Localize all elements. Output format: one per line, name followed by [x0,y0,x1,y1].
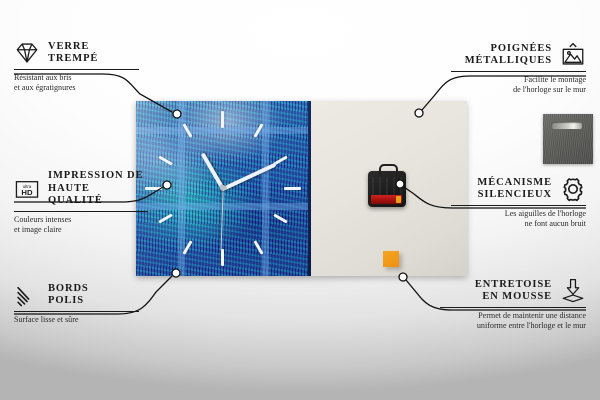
callout-mecanisme-silencieux: MÉCANISME SILENCIEUX Les aiguilles de l'… [451,176,586,229]
callout-title: BORDS POLIS [48,283,89,308]
foam-spacer-icon [560,278,586,304]
glass-reflection [136,101,311,276]
wall-mount-icon [560,42,586,68]
ultra-hd-icon-bottom: HD [21,188,33,197]
callout-title: POIGNÉES MÉTALLIQUES [465,43,552,68]
foam-spacer [383,251,399,267]
callout-poignees-metalliques: POIGNÉES MÉTALLIQUES Facilite le montage… [451,42,586,95]
mechanism-hanger-loop [379,164,398,175]
polished-edges-icon [14,282,40,308]
callout-title: IMPRESSION DE HAUTE QUALITÉ [48,170,148,208]
callout-title: MÉCANISME SILENCIEUX [477,177,552,202]
callout-header: MÉCANISME SILENCIEUX [451,176,586,202]
callout-verre-trempe: VERRE TREMPÉ Résistant aux bris et aux é… [14,40,139,93]
callout-header: BORDS POLIS [14,282,139,308]
diamond-icon [14,40,40,66]
callout-entretoise-mousse: ENTRETOISE EN MOUSSE Permet de maintenir… [440,278,586,331]
callout-bords-polis: BORDS POLIS Surface lisse et sûre [14,282,139,325]
callout-title: ENTRETOISE EN MOUSSE [475,279,552,304]
callout-subtitle: Les aiguilles de l'horloge ne font aucun… [451,209,586,229]
infographic-canvas: VERRE TREMPÉ Résistant aux bris et aux é… [0,0,600,400]
callout-rule [440,307,586,308]
callout-header: VERRE TREMPÉ [14,40,139,66]
clock-face-panel [136,101,311,276]
callout-rule [14,211,148,212]
callout-title: VERRE TREMPÉ [48,41,98,66]
gear-icon [560,176,586,202]
clock-back-panel [311,101,467,276]
callout-subtitle: Permet de maintenir une distance uniform… [440,311,586,331]
callout-subtitle: Surface lisse et sûre [14,315,139,325]
metal-hanger-plate [543,114,593,164]
callout-header: ultra HD IMPRESSION DE HAUTE QUALITÉ [14,170,148,208]
ultra-hd-icon: ultra HD [14,176,40,202]
mechanism-detail [372,177,402,195]
callout-subtitle: Couleurs intenses et image claire [14,215,148,235]
callout-subtitle: Résistant aux bris et aux égratignures [14,73,139,93]
callout-impression-hd: ultra HD IMPRESSION DE HAUTE QUALITÉ Cou… [14,170,148,235]
callout-subtitle: Facilite le montage de l'horloge sur le … [451,75,586,95]
battery-terminal [396,196,401,203]
callout-rule [14,69,139,70]
callout-header: POIGNÉES MÉTALLIQUES [451,42,586,68]
battery [371,195,402,204]
product-clock-assembly [136,101,467,276]
callout-rule [14,311,139,312]
hanger-slot [552,122,582,129]
callout-rule [451,71,586,72]
callout-header: ENTRETOISE EN MOUSSE [440,278,586,304]
callout-rule [451,205,586,206]
clock-mechanism [368,171,406,207]
